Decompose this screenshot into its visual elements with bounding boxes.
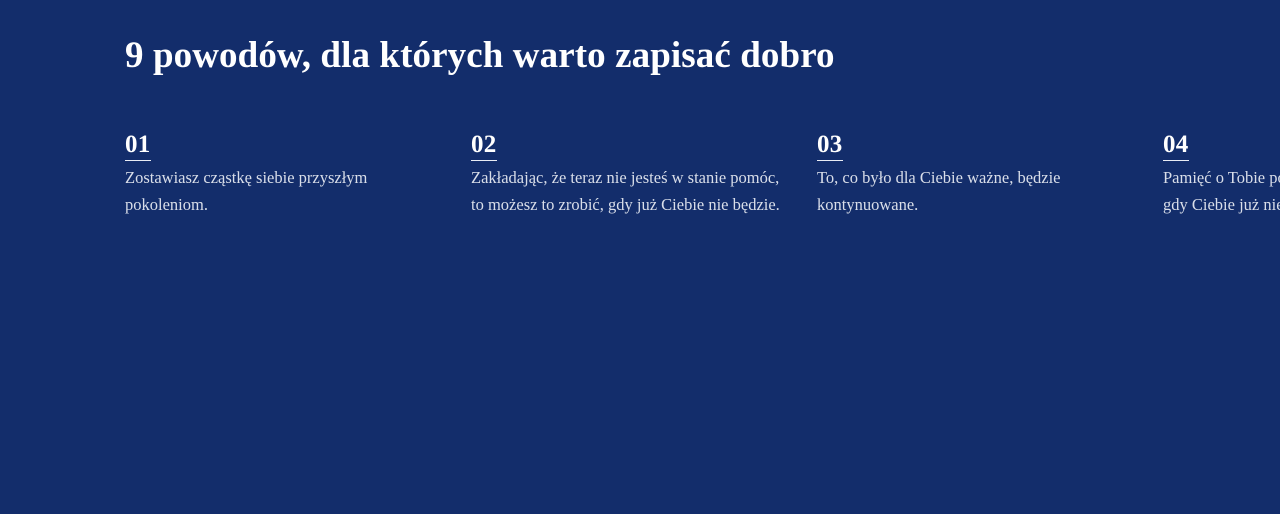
reason-item-04: 04 Pamięć o Tobie pozostaje na długo po … <box>1163 132 1280 272</box>
reason-item-01: 01 Zostawiasz cząstkę siebie przyszłym p… <box>125 132 435 272</box>
reason-text: Zakładając, że teraz nie jesteś w stanie… <box>471 165 781 218</box>
reason-number: 01 <box>125 132 151 161</box>
reason-item-02: 02 Zakładając, że teraz nie jesteś w sta… <box>471 132 781 272</box>
reason-number: 03 <box>817 132 843 161</box>
reason-text: To, co było dla Ciebie ważne, będzie kon… <box>817 165 1127 218</box>
reason-number: 04 <box>1163 132 1189 161</box>
reasons-grid: 01 Zostawiasz cząstkę siebie przyszłym p… <box>125 132 1165 272</box>
reason-text: Pamięć o Tobie pozostaje na długo po tym… <box>1163 165 1280 218</box>
reason-text: Zostawiasz cząstkę siebie przyszłym poko… <box>125 165 435 218</box>
reason-item-03: 03 To, co było dla Ciebie ważne, będzie … <box>817 132 1127 272</box>
slide-root: 9 powodów, dla których warto zapisać dob… <box>0 0 1280 514</box>
page-title: 9 powodów, dla których warto zapisać dob… <box>125 34 835 78</box>
reason-number: 02 <box>471 132 497 161</box>
